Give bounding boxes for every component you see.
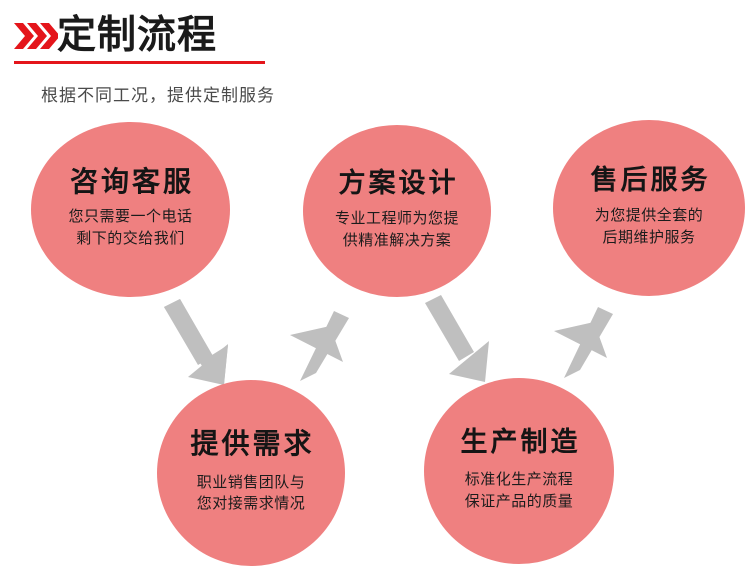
page-header: 定制流程 根据不同工况，提供定制服务 xyxy=(0,0,750,70)
flow-node-title: 方案设计 xyxy=(336,169,459,199)
flow-node-design[interactable]: 方案设计 专业工程师为您提 供精准解决方案 xyxy=(303,125,491,297)
flow-node-description: 职业销售团队与 您对接需求情况 xyxy=(197,473,306,517)
flow-node-title: 售后服务 xyxy=(588,166,711,196)
page-subtitle: 根据不同工况，提供定制服务 xyxy=(41,81,275,106)
title-underline xyxy=(14,61,265,64)
flow-node-description: 您只需要一个电话 剩下的交给我们 xyxy=(68,207,192,251)
page-title: 定制流程 xyxy=(57,13,217,59)
flow-node-production[interactable]: 生产制造 标准化生产流程 保证产品的质量 xyxy=(424,378,614,564)
flow-node-description: 标准化生产流程 保证产品的质量 xyxy=(465,470,574,514)
flow-arrow-3 xyxy=(425,295,489,382)
flow-node-aftersales[interactable]: 售后服务 为您提供全套的 后期维护服务 xyxy=(553,120,745,296)
flow-arrow-2 xyxy=(290,311,349,381)
flow-node-title: 生产制造 xyxy=(458,428,581,458)
flow-node-title: 咨询客服 xyxy=(67,168,194,199)
flow-node-desc-line-1: 标准化生产流程 xyxy=(465,470,574,492)
flow-node-desc-line-2: 供精准解决方案 xyxy=(335,231,459,253)
flow-node-desc-line-1: 为您提供全套的 xyxy=(595,206,704,228)
flow-node-desc-line-1: 职业销售团队与 xyxy=(197,473,306,495)
flow-arrow-1 xyxy=(164,299,228,385)
triple-chevron-icon xyxy=(14,21,58,51)
flow-node-desc-line-1: 您只需要一个电话 xyxy=(68,207,192,229)
slide-canvas: 定制流程 根据不同工况，提供定制服务 咨询客服 您只需 xyxy=(0,0,750,576)
flow-node-desc-line-2: 剩下的交给我们 xyxy=(68,229,192,251)
flow-node-desc-line-2: 后期维护服务 xyxy=(595,228,704,250)
flow-node-description: 专业工程师为您提 供精准解决方案 xyxy=(335,209,459,253)
flow-node-title: 提供需求 xyxy=(187,430,314,461)
flow-node-desc-line-2: 保证产品的质量 xyxy=(465,492,574,514)
flow-arrow-4 xyxy=(554,307,613,378)
flow-node-requirements[interactable]: 提供需求 职业销售团队与 您对接需求情况 xyxy=(157,380,345,566)
flow-node-description: 为您提供全套的 后期维护服务 xyxy=(595,206,704,250)
flow-node-desc-line-2: 您对接需求情况 xyxy=(197,494,306,516)
flow-node-desc-line-1: 专业工程师为您提 xyxy=(335,209,459,231)
flow-node-consultation[interactable]: 咨询客服 您只需要一个电话 剩下的交给我们 xyxy=(31,122,230,297)
